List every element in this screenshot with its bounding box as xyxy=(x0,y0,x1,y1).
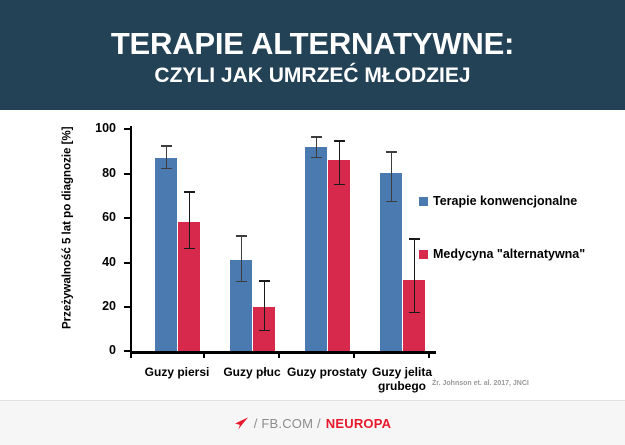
x-tick-0 xyxy=(130,351,132,358)
bar-group-guzy-piersi xyxy=(155,129,200,351)
legend-item-conventional: Terapie konwencjonalne xyxy=(419,194,619,209)
bar-conventional-guzy-prostaty[interactable] xyxy=(305,147,327,351)
bar-alternative-guzy-prostaty[interactable] xyxy=(328,160,350,351)
chart-source-citation: Źr. Johnson et. al. 2017, JNCI xyxy=(432,380,529,387)
chart-legend: Terapie konwencjonalne Medycyna "alterna… xyxy=(419,194,619,300)
footer-bar: / FB.COM / NEUROPA xyxy=(0,400,625,445)
bar-group-guzy-pluc xyxy=(230,129,275,351)
y-axis-title: Przeżywalność 5 lat po diagnozie [%] xyxy=(62,113,74,343)
errorbar-alternative-guzy-piersi xyxy=(189,191,191,249)
y-tick-label-80: 80 xyxy=(102,166,116,180)
y-tick-label-20: 20 xyxy=(102,299,116,313)
bar-conventional-guzy-piersi[interactable] xyxy=(155,158,177,351)
footer-site-label: / FB.COM / xyxy=(254,416,321,431)
chart-container: Przeżywalność 5 lat po diagnozie [%] 0 2… xyxy=(0,110,625,400)
errorbar-conventional-guzy-piersi xyxy=(166,145,168,169)
y-axis-line xyxy=(130,126,132,351)
paper-plane-icon xyxy=(234,416,249,431)
y-tick-60: 60 xyxy=(124,217,130,219)
footer-credit[interactable]: / FB.COM / NEUROPA xyxy=(234,416,391,431)
legend-label-alternative: Medycyna "alternatywna" xyxy=(433,247,585,262)
legend-swatch-red-icon xyxy=(419,250,428,259)
x-tick-3 xyxy=(353,351,355,358)
errorbar-conventional-guzy-pluc xyxy=(241,235,243,282)
x-tick-1 xyxy=(203,351,205,358)
x-tick-4 xyxy=(428,351,430,358)
y-tick-label-60: 60 xyxy=(102,210,116,224)
footer-brand-label: NEUROPA xyxy=(326,416,391,431)
errorbar-alternative-guzy-pluc xyxy=(264,280,266,331)
y-tick-label-100: 100 xyxy=(95,121,116,135)
y-tick-100: 100 xyxy=(124,128,130,130)
legend-label-conventional: Terapie konwencjonalne xyxy=(433,194,577,209)
errorbar-alternative-guzy-prostaty xyxy=(339,140,341,185)
errorbar-conventional-guzy-prostaty xyxy=(316,136,318,158)
legend-swatch-blue-icon xyxy=(419,197,428,206)
y-tick-label-40: 40 xyxy=(102,255,116,269)
y-tick-40: 40 xyxy=(124,262,130,264)
y-tick-80: 80 xyxy=(124,173,130,175)
x-axis-line xyxy=(130,351,436,354)
legend-item-alternative: Medycyna "alternatywna" xyxy=(419,247,619,262)
bar-group-guzy-prostaty xyxy=(305,129,350,351)
x-tick-2 xyxy=(278,351,280,358)
errorbar-conventional-guzy-jelita-grubego xyxy=(391,151,393,202)
y-tick-label-0: 0 xyxy=(109,343,116,357)
page-title: TERAPIE ALTERNATYWNE: xyxy=(111,28,514,61)
header-banner: TERAPIE ALTERNATYWNE: CZYLI JAK UMRZEĆ M… xyxy=(0,0,625,110)
plot-area: 0 20 40 60 80 100 xyxy=(130,129,434,351)
errorbar-alternative-guzy-jelita-grubego xyxy=(414,238,416,313)
y-tick-20: 20 xyxy=(124,306,130,308)
page-subtitle: CZYLI JAK UMRZEĆ MŁODZIEJ xyxy=(154,64,470,88)
